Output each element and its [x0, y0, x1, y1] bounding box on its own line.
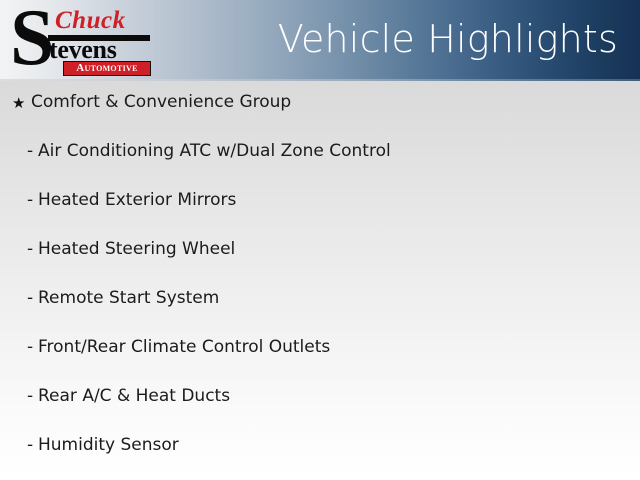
list-item-label: Humidity Sensor: [38, 432, 179, 458]
list-item-label: Heated Steering Wheel: [38, 236, 235, 262]
list-item-label: Front/Rear Climate Control Outlets: [38, 334, 330, 360]
list-item-label: Remote Start System: [38, 285, 219, 311]
list-item: - Rear A/C & Heat Ducts: [0, 380, 640, 429]
header-underline: [0, 79, 640, 81]
star-icon: ★: [12, 95, 25, 113]
list-item: - Heated Steering Wheel: [0, 233, 640, 282]
list-item-group-heading: ★ Comfort & Convenience Group: [0, 86, 640, 135]
list-item-label: Rear A/C & Heat Ducts: [38, 383, 230, 409]
page-title: Vehicle Highlights: [278, 14, 618, 64]
vehicle-highlights-slide: S Chuck tevens Automotive Vehicle Highli…: [0, 0, 640, 480]
dealer-logo: S Chuck tevens Automotive: [8, 4, 160, 74]
list-item: - Heated Exterior Mirrors: [0, 184, 640, 233]
list-item: - Humidity Sensor: [0, 429, 640, 478]
group-heading-label: Comfort & Convenience Group: [31, 89, 291, 115]
dash-icon: -: [27, 187, 33, 213]
dash-icon: -: [27, 334, 33, 360]
dash-icon: -: [27, 138, 33, 164]
list-item: - Front/Rear Climate Control Outlets: [0, 331, 640, 380]
list-item-label: Heated Exterior Mirrors: [38, 187, 236, 213]
list-item: - Air Conditioning ATC w/Dual Zone Contr…: [0, 135, 640, 184]
highlights-list: ★ Comfort & Convenience Group - Air Cond…: [0, 86, 640, 478]
logo-automotive-badge: Automotive: [63, 61, 151, 76]
logo-initial-s: S: [10, 0, 53, 78]
dash-icon: -: [27, 432, 33, 458]
list-item: - Remote Start System: [0, 282, 640, 331]
list-item-label: Air Conditioning ATC w/Dual Zone Control: [38, 138, 391, 164]
logo-name-chuck: Chuck: [55, 8, 126, 34]
logo-automotive-label: Automotive: [64, 62, 150, 75]
dash-icon: -: [27, 285, 33, 311]
dash-icon: -: [27, 236, 33, 262]
dash-icon: -: [27, 383, 33, 409]
